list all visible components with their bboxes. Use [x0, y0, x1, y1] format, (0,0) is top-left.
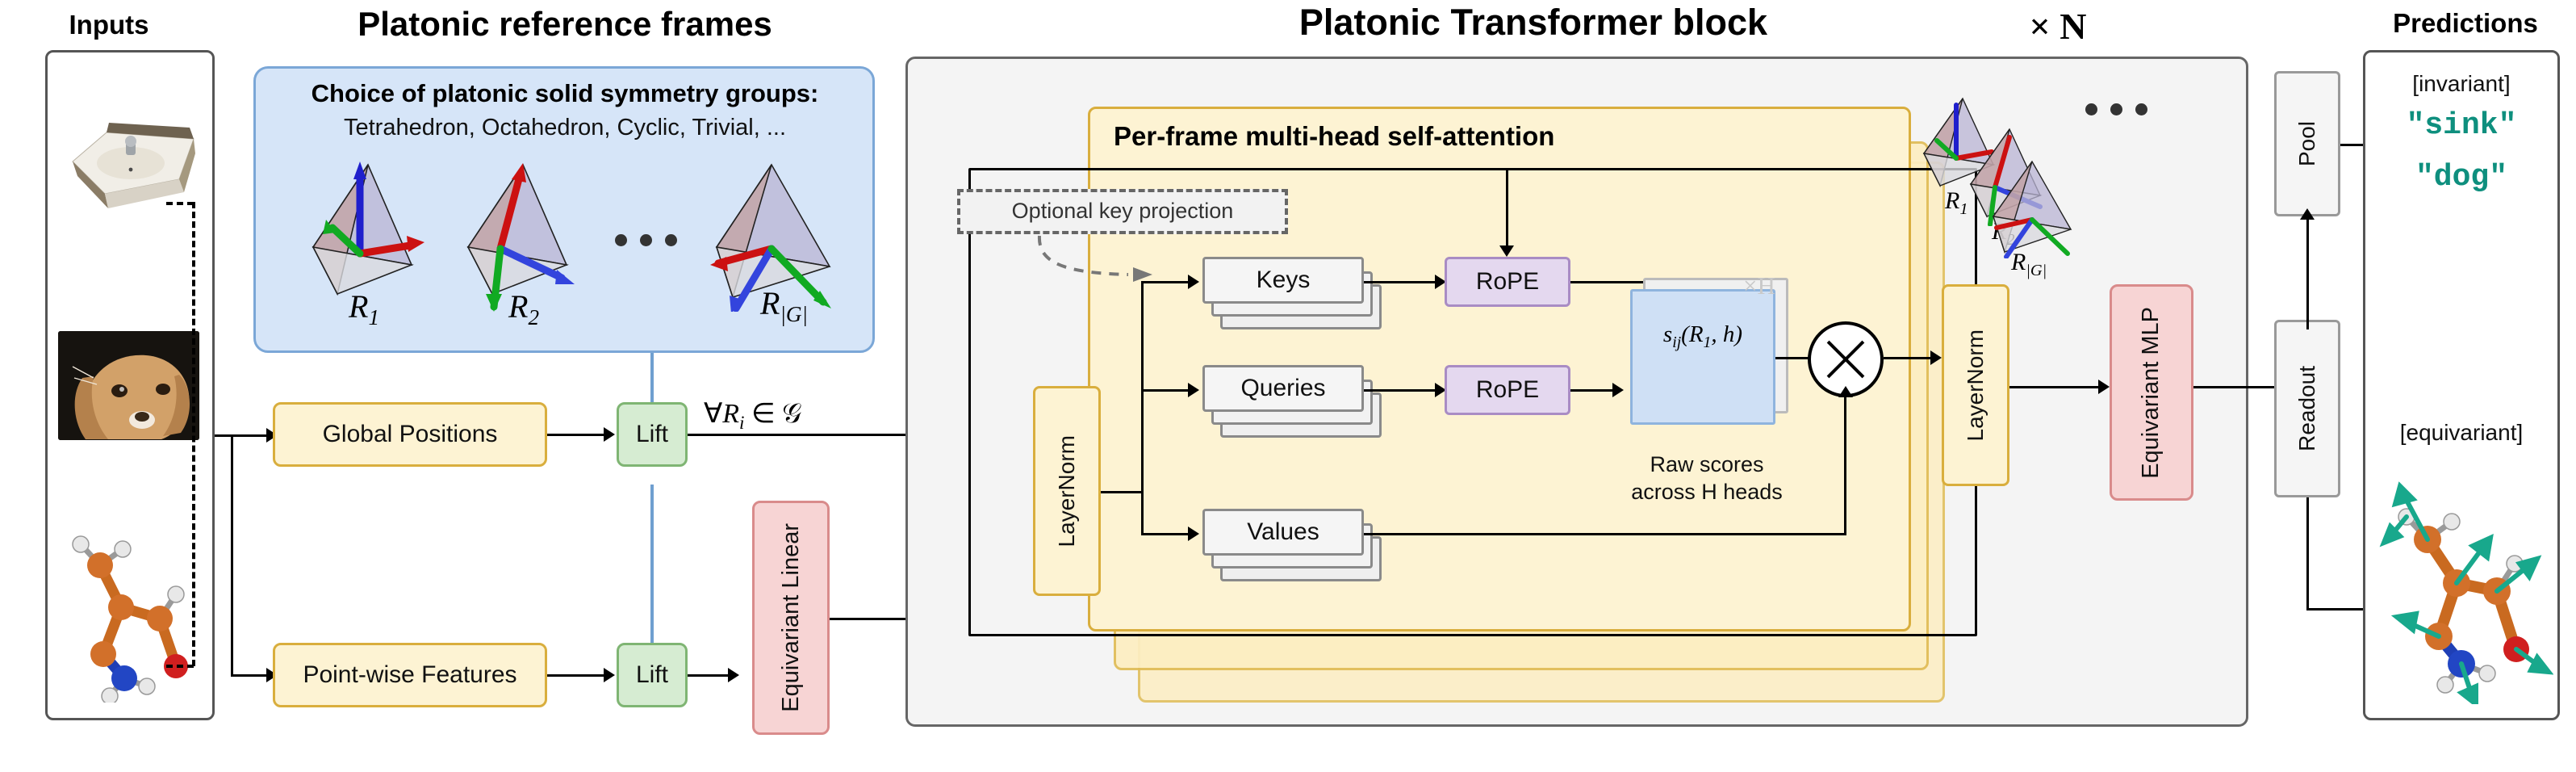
- rope-queries-label: RoPE: [1476, 376, 1539, 405]
- layernorm-output-label: LayerNorm: [1963, 329, 1988, 441]
- features-to-lift-line: [547, 674, 608, 677]
- platonic-frame-2-label: R2: [508, 287, 539, 330]
- input-dashed-connector: [192, 202, 195, 666]
- frame-tags-ellipsis: [2085, 103, 2147, 115]
- readout-box[interactable]: Readout: [2274, 320, 2340, 497]
- values-up-to-otimes: [1844, 396, 1846, 535]
- input-image-dog: [58, 331, 199, 440]
- arrow-to-keys: [1188, 275, 1199, 289]
- arrow-rope-queries-to-scores: [1612, 383, 1624, 397]
- arrow-frames-into-rope: [1499, 245, 1514, 257]
- forall-frames-label: ∀Ri ∈ 𝒢: [704, 397, 801, 434]
- pool-box[interactable]: Pool: [2274, 71, 2340, 216]
- arrow-to-values: [1188, 527, 1199, 541]
- arrow-features-to-lift: [604, 668, 615, 682]
- reference-panel-title: Choice of platonic solid symmetry groups…: [263, 79, 867, 108]
- readout-label: Readout: [2294, 366, 2320, 451]
- layernorm-input-label: LayerNorm: [1054, 435, 1080, 547]
- arrow-layernorm-to-mlp: [2098, 380, 2110, 394]
- rope-keys-box[interactable]: RoPE: [1445, 257, 1570, 307]
- optional-key-projection-box: Optional key projection: [957, 189, 1288, 234]
- lift-box-bottom[interactable]: Lift: [617, 643, 688, 707]
- values-stack[interactable]: Values: [1202, 509, 1388, 588]
- global-positions-box[interactable]: Global Positions: [273, 402, 547, 467]
- heads-badge: ×H: [1743, 271, 1775, 300]
- scores-box: [1630, 289, 1775, 425]
- input-image-molecule: [53, 517, 207, 703]
- header-repeat-count: × N: [1977, 5, 2139, 48]
- values-label: Values: [1247, 518, 1319, 547]
- kqv-bus: [1141, 281, 1144, 535]
- layernorm-output-box[interactable]: LayerNorm: [1942, 284, 2009, 486]
- readout-to-pool-line: [2306, 216, 2309, 329]
- equivariant-mlp-box[interactable]: Equivariant MLP: [2110, 284, 2193, 501]
- reference-panel-subtitle: Tetrahedron, Octahedron, Cyclic, Trivial…: [263, 115, 867, 141]
- rope-keys-label: RoPE: [1476, 268, 1539, 296]
- prediction-class-dog: "dog": [2368, 160, 2555, 195]
- optional-key-projection-label: Optional key projection: [1012, 199, 1234, 224]
- keys-to-rope-line: [1364, 281, 1440, 283]
- bus-to-queries: [1141, 389, 1193, 392]
- arrow-otimes-to-layernorm: [1930, 350, 1942, 365]
- platonic-frame-1-label: R1: [349, 287, 379, 330]
- scores-caption-line2: across H heads: [1614, 480, 1800, 505]
- header-transformer-block: Platonic Transformer block: [1130, 2, 1937, 44]
- lift-bottom-label: Lift: [636, 661, 668, 690]
- arrow-to-queries: [1188, 383, 1199, 397]
- pool-label: Pool: [2294, 121, 2320, 166]
- bus-to-keys: [1141, 281, 1193, 283]
- invariant-tag: [invariant]: [2368, 71, 2555, 97]
- optional-key-projection-connector: [1033, 234, 1186, 299]
- pointwise-features-label: Point-wise Features: [303, 661, 516, 690]
- otimes-to-layernorm-out: [1884, 357, 1937, 359]
- prediction-class-sink: "sink": [2368, 108, 2555, 143]
- attention-panel-title: Per-frame multi-head self-attention: [1114, 121, 1554, 152]
- pointwise-features-box[interactable]: Point-wise Features: [273, 643, 547, 707]
- scores-caption-line1: Raw scores: [1614, 452, 1800, 477]
- layernorm-input-box[interactable]: LayerNorm: [1033, 386, 1101, 596]
- platonic-frame-last-label: R|G|: [760, 284, 808, 327]
- rope-queries-box[interactable]: RoPE: [1445, 365, 1570, 415]
- header-reference-frames: Platonic reference frames: [242, 5, 888, 44]
- arrow-values-to-otimes: [1838, 386, 1853, 397]
- keys-label: Keys: [1257, 266, 1311, 295]
- bus-to-values: [1141, 533, 1193, 535]
- frame-tag-last-label: R|G|: [2011, 249, 2047, 280]
- inputs-bus-vertical: [231, 434, 233, 677]
- scores-formula: sij(R1, h): [1630, 321, 1775, 352]
- readout-to-eqpred-line: [2306, 497, 2309, 610]
- lift-bottom-to-eqlinear: [688, 674, 733, 677]
- inputs-bus-to-global: [215, 434, 271, 437]
- lift-top-label: Lift: [636, 421, 668, 449]
- frames-feed-top-line: [1372, 168, 1508, 170]
- input-image-sink: [58, 95, 199, 216]
- frames-feed-into-rope: [1506, 168, 1508, 252]
- global-positions-label: Global Positions: [323, 421, 498, 449]
- input-dashed-bottom: [166, 665, 194, 668]
- prediction-equivariant-molecule: [2371, 462, 2553, 704]
- arrow-global-to-lift: [604, 427, 615, 442]
- inputs-bus-to-features: [231, 674, 271, 677]
- rope-queries-out-line: [1570, 389, 1617, 392]
- keys-stack[interactable]: Keys: [1202, 257, 1388, 336]
- queries-label: Queries: [1240, 375, 1325, 403]
- queries-to-rope-line: [1364, 389, 1440, 392]
- global-positions-to-lift-line: [547, 434, 608, 436]
- queries-stack[interactable]: Queries: [1202, 365, 1388, 444]
- header-inputs: Inputs: [16, 10, 202, 40]
- layernorm-out-line: [1101, 491, 1143, 493]
- arrow-readout-to-pool: [2300, 208, 2315, 220]
- scores-to-otimes-line: [1775, 357, 1809, 359]
- input-dashed-top: [166, 202, 194, 205]
- equivariant-linear-label: Equivariant Linear: [779, 523, 803, 712]
- equivariant-linear-box[interactable]: Equivariant Linear: [752, 501, 830, 735]
- platonic-frames-ellipsis: [615, 234, 677, 246]
- lift-box-top[interactable]: Lift: [617, 402, 688, 467]
- header-predictions: Predictions: [2365, 8, 2566, 39]
- values-out-line: [1364, 533, 1846, 535]
- layernorm-to-mlp-line: [2009, 386, 2105, 388]
- mlp-to-readout-line: [2193, 386, 2285, 388]
- equivariant-mlp-label: Equivariant MLP: [2139, 307, 2164, 479]
- arrow-lift-bottom-to-eqlinear: [728, 668, 739, 682]
- frame-tag-last: [1979, 153, 2100, 258]
- equivariant-tag: [equivariant]: [2368, 420, 2555, 446]
